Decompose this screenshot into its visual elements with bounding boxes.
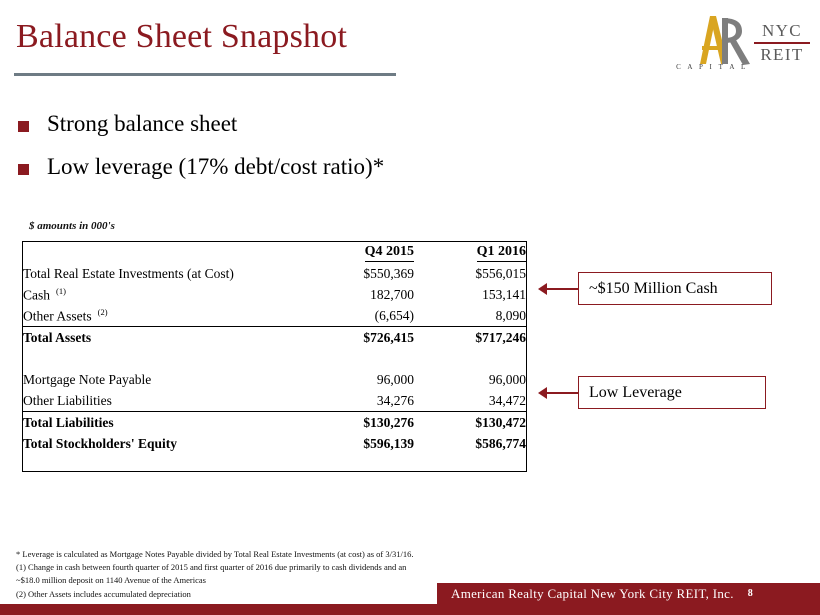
footer-company-name: American Realty Capital New York City RE…: [451, 586, 734, 602]
page-title: Balance Sheet Snapshot: [16, 18, 347, 56]
row-value-q1: 34,472: [414, 390, 526, 412]
table-row: Other Assets(2) (6,654) 8,090: [23, 305, 526, 327]
arrow-shaft: [546, 288, 580, 290]
row-value-q1: 153,141: [414, 284, 526, 305]
logo-nyc-reit-lockup: NYC REIT: [754, 21, 810, 64]
row-value-q4: 182,700: [302, 284, 414, 305]
footer-accent-bar: [0, 604, 820, 615]
callout-arrow-leverage-icon: [538, 387, 580, 399]
table-row: Total Real Estate Investments (at Cost) …: [23, 263, 526, 284]
bullet-label: Low leverage (17% debt/cost ratio)*: [47, 155, 384, 178]
logo-nyc-text: NYC: [754, 21, 810, 41]
page-number: 8: [748, 588, 753, 599]
column-header-q1: Q1 2016: [477, 244, 526, 262]
callout-leverage: Low Leverage: [578, 376, 766, 409]
footnote-line: ~$18.0 million deposit on 1140 Avenue of…: [16, 574, 413, 587]
footnote-marker: (1): [56, 286, 66, 296]
callout-cash: ~$150 Million Cash: [578, 272, 772, 305]
table-units-note: $ amounts in 000's: [29, 220, 115, 232]
row-value-q4: (6,654): [302, 305, 414, 327]
footnote-line: (2) Other Assets includes accumulated de…: [16, 588, 413, 601]
table-spacer-row: [23, 348, 526, 369]
ar-monogram-icon: [676, 12, 752, 68]
square-bullet-icon: [18, 121, 29, 132]
callout-arrow-cash-icon: [538, 283, 580, 295]
square-bullet-icon: [18, 164, 29, 175]
row-value-q4: $596,139: [302, 433, 414, 454]
table-row: Other Liabilities 34,276 34,472: [23, 390, 526, 412]
row-value-q1: $586,774: [414, 433, 526, 454]
table-header-row: Q4 2015 Q1 2016: [23, 242, 526, 263]
table-row: Mortgage Note Payable 96,000 96,000: [23, 369, 526, 390]
title-underline-rule: [14, 73, 396, 76]
footnote-line: * Leverage is calculated as Mortgage Not…: [16, 548, 413, 561]
bullet-item-strong-balance-sheet: Strong balance sheet: [18, 112, 237, 135]
row-value-q1: $130,472: [414, 412, 526, 434]
footnotes: * Leverage is calculated as Mortgage Not…: [16, 548, 413, 601]
table-row-total-equity: Total Stockholders' Equity $596,139 $586…: [23, 433, 526, 454]
bullet-label: Strong balance sheet: [47, 112, 237, 135]
row-value-q1: $717,246: [414, 327, 526, 349]
row-value-q4: $550,369: [302, 263, 414, 284]
footer-company-banner: American Realty Capital New York City RE…: [437, 583, 820, 604]
row-label: Total Real Estate Investments (at Cost): [23, 266, 234, 281]
balance-sheet-table: Q4 2015 Q1 2016 Total Real Estate Invest…: [22, 241, 527, 472]
row-label: Cash: [23, 287, 50, 302]
logo-capital-text: C A P I T A L: [676, 63, 748, 71]
footnote-line: (1) Change in cash between fourth quarte…: [16, 561, 413, 574]
row-value-q1: $556,015: [414, 263, 526, 284]
row-value-q4: $726,415: [302, 327, 414, 349]
row-value-q4: $130,276: [302, 412, 414, 434]
row-value-q4: 96,000: [302, 369, 414, 390]
row-value-q1: 8,090: [414, 305, 526, 327]
table-row-total-assets: Total Assets $726,415 $717,246: [23, 327, 526, 349]
bullet-item-low-leverage: Low leverage (17% debt/cost ratio)*: [18, 155, 384, 178]
logo-reit-text: REIT: [754, 45, 810, 65]
arrow-shaft: [546, 392, 580, 394]
row-value-q4: 34,276: [302, 390, 414, 412]
row-label: Total Stockholders' Equity: [23, 436, 177, 451]
row-value-q1: 96,000: [414, 369, 526, 390]
column-header-q4: Q4 2015: [365, 244, 414, 262]
row-label: Total Assets: [23, 330, 91, 345]
ar-capital-nyc-reit-logo: C A P I T A L NYC REIT: [672, 12, 812, 80]
row-label: Other Liabilities: [23, 393, 112, 408]
row-label: Total Liabilities: [23, 415, 114, 430]
table-row: Cash(1) 182,700 153,141: [23, 284, 526, 305]
footnote-marker: (2): [98, 307, 108, 317]
row-label: Mortgage Note Payable: [23, 372, 151, 387]
logo-divider-rule: [754, 42, 810, 44]
row-label: Other Assets: [23, 308, 92, 323]
table-row-total-liabilities: Total Liabilities $130,276 $130,472: [23, 412, 526, 434]
